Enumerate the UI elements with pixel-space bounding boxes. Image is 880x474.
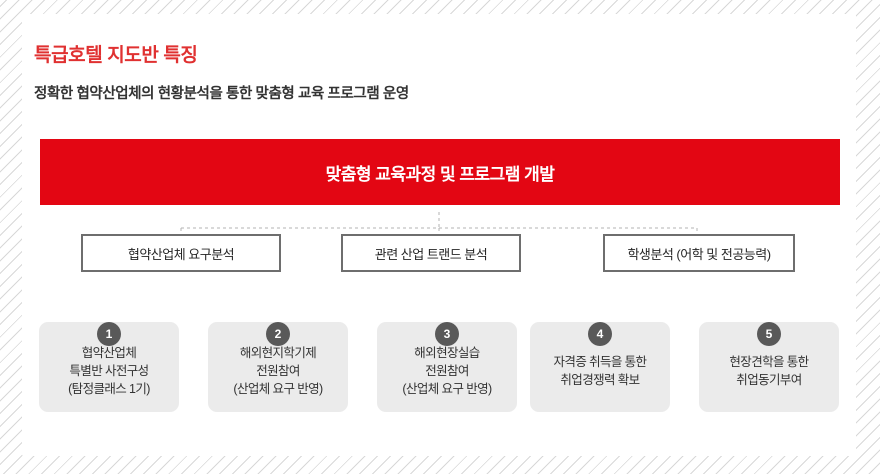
step-card-line: 해외현지학기제 — [240, 344, 316, 362]
step-card-line: 자격증 취득을 통한 — [554, 353, 647, 371]
step-card-text: 현장견학을 통한 취업동기부여 — [729, 353, 808, 389]
step-card[interactable]: 4 자격증 취득을 통한 취업경쟁력 확보 — [530, 322, 670, 412]
analysis-box-row: 협약산업체 요구분석 관련 산업 트랜드 분석 학생분석 (어학 및 전공능력) — [22, 234, 856, 274]
step-number-badge: 1 — [97, 322, 121, 346]
step-number-badge: 4 — [588, 322, 612, 346]
step-card[interactable]: 1 협약산업체 특별반 사전구성 (탐정클래스 1기) — [39, 322, 179, 412]
step-card-line: 해외현장실습 — [414, 344, 479, 362]
step-card-line: (산업체 요구 반영) — [402, 380, 491, 398]
step-number-badge: 2 — [266, 322, 290, 346]
banner-title: 맞춤형 교육과정 및 프로그램 개발 — [326, 160, 555, 185]
step-card[interactable]: 2 해외현지학기제 전원참여 (산업체 요구 반영) — [208, 322, 348, 412]
analysis-box-label: 관련 산업 트랜드 분석 — [375, 244, 487, 263]
analysis-box-label: 학생분석 (어학 및 전공능력) — [627, 244, 770, 263]
step-number-badge: 3 — [435, 322, 459, 346]
step-card[interactable]: 3 해외현장실습 전원참여 (산업체 요구 반영) — [377, 322, 517, 412]
step-card-text: 자격증 취득을 통한 취업경쟁력 확보 — [554, 353, 647, 389]
page-subtitle: 정확한 협약산업체의 현황분석을 통한 맞춤형 교육 프로그램 운영 — [34, 82, 409, 103]
step-card-line: 취업동기부여 — [736, 371, 801, 389]
content-panel: 특급호텔 지도반 특징 정확한 협약산업체의 현황분석을 통한 맞춤형 교육 프… — [22, 14, 856, 456]
analysis-box-student-analysis[interactable]: 학생분석 (어학 및 전공능력) — [603, 234, 795, 272]
step-card-line: 전원참여 — [425, 362, 469, 380]
analysis-box-industry-trend[interactable]: 관련 산업 트랜드 분석 — [341, 234, 521, 272]
slide-backdrop: 특급호텔 지도반 특징 정확한 협약산업체의 현황분석을 통한 맞춤형 교육 프… — [0, 0, 880, 474]
analysis-box-label: 협약산업체 요구분석 — [128, 244, 234, 263]
step-card-line: 취업경쟁력 확보 — [560, 371, 639, 389]
red-banner: 맞춤형 교육과정 및 프로그램 개발 — [40, 139, 840, 205]
step-card-line: 협약산업체 — [82, 344, 137, 362]
step-card-line: 현장견학을 통한 — [729, 353, 808, 371]
page-title: 특급호텔 지도반 특징 — [34, 40, 197, 67]
step-card[interactable]: 5 현장견학을 통한 취업동기부여 — [699, 322, 839, 412]
step-card-line: (탐정클래스 1기) — [68, 380, 150, 398]
step-card-line: 특별반 사전구성 — [69, 362, 148, 380]
step-card-line: 전원참여 — [256, 362, 300, 380]
step-number-badge: 5 — [757, 322, 781, 346]
step-card-text: 해외현장실습 전원참여 (산업체 요구 반영) — [402, 344, 491, 398]
step-card-text: 협약산업체 특별반 사전구성 (탐정클래스 1기) — [68, 344, 150, 398]
step-card-text: 해외현지학기제 전원참여 (산업체 요구 반영) — [233, 344, 322, 398]
step-card-line: (산업체 요구 반영) — [233, 380, 322, 398]
step-card-row: 1 협약산업체 특별반 사전구성 (탐정클래스 1기) 2 해외현지학기제 전원… — [22, 310, 856, 420]
analysis-box-requirements[interactable]: 협약산업체 요구분석 — [81, 234, 281, 272]
